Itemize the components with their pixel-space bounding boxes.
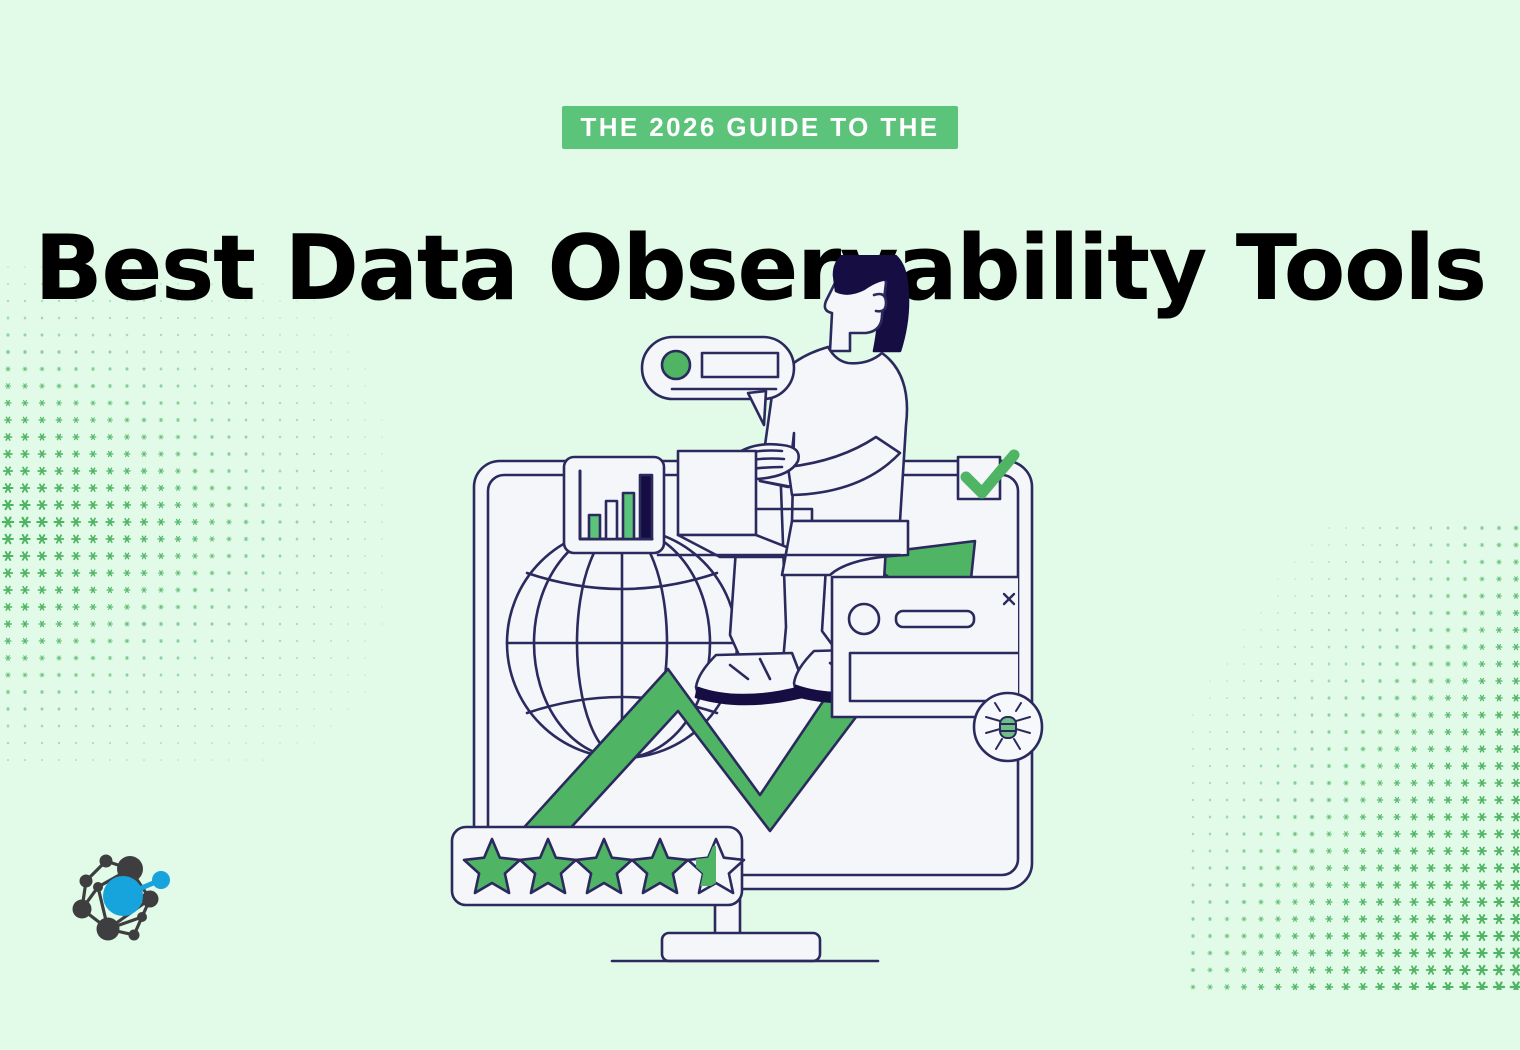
asterisk-dot-pattern-right bbox=[1185, 520, 1520, 990]
bar-chart-card bbox=[564, 457, 664, 553]
poster-canvas: THE 2026 GUIDE TO THE Best Data Observab… bbox=[0, 0, 1520, 1050]
bug-monitor-badge[interactable] bbox=[974, 693, 1042, 761]
star-rating bbox=[452, 827, 744, 905]
eyebrow-wrap: THE 2026 GUIDE TO THE bbox=[0, 106, 1520, 149]
data-observability-hero bbox=[430, 255, 1090, 965]
network-graph-logo[interactable] bbox=[68, 843, 178, 953]
eyebrow-badge: THE 2026 GUIDE TO THE bbox=[562, 106, 957, 149]
